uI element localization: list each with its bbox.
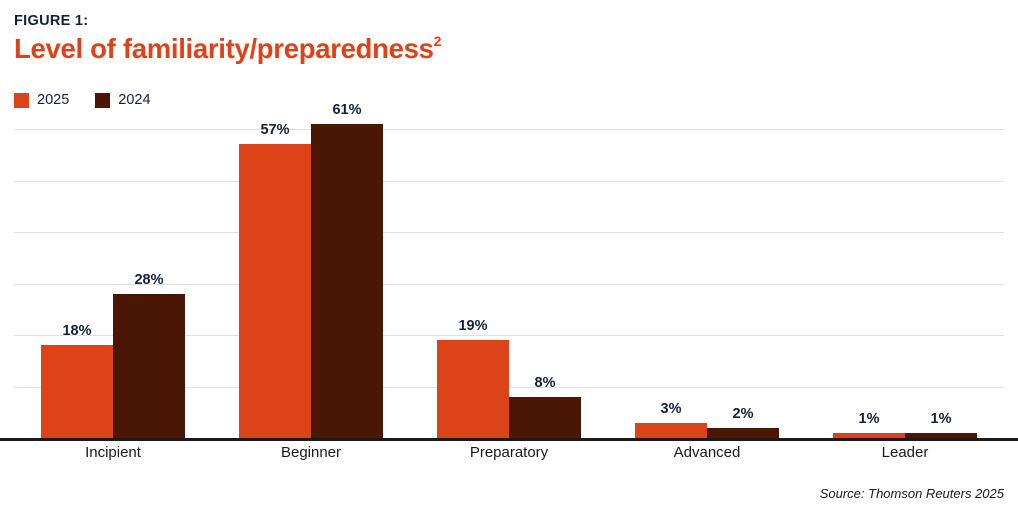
bar-value-label: 1%	[833, 411, 905, 427]
bar-2024-advanced[interactable]	[707, 428, 779, 438]
x-axis-label-preparatory: Preparatory	[419, 444, 599, 461]
bar-value-label: 3%	[635, 401, 707, 417]
bar-value-label: 1%	[905, 411, 977, 427]
bar-2024-incipient[interactable]	[113, 294, 185, 438]
bar-2025-beginner[interactable]	[239, 144, 311, 438]
source-attribution: Source: Thomson Reuters 2025	[820, 486, 1004, 501]
bar-value-label: 8%	[509, 375, 581, 391]
x-axis-label-leader: Leader	[815, 444, 995, 461]
x-axis-label-advanced: Advanced	[617, 444, 797, 461]
x-axis-category-labels: IncipientBeginnerPreparatoryAdvancedLead…	[0, 444, 1018, 470]
x-axis-label-beginner: Beginner	[221, 444, 401, 461]
bar-2025-incipient[interactable]	[41, 345, 113, 438]
bar-value-label: 61%	[311, 102, 383, 118]
x-axis-line	[0, 438, 1018, 441]
bar-value-label: 57%	[239, 122, 311, 138]
bar-value-label: 19%	[437, 318, 509, 334]
bar-value-label: 2%	[707, 406, 779, 422]
bar-2024-beginner[interactable]	[311, 124, 383, 438]
x-axis-label-incipient: Incipient	[23, 444, 203, 461]
bar-2025-advanced[interactable]	[635, 423, 707, 438]
chart-plot-area: 18%28%57%61%19%8%3%2%1%1%	[0, 0, 1018, 438]
bar-value-label: 28%	[113, 272, 185, 288]
bar-2025-preparatory[interactable]	[437, 340, 509, 438]
bar-value-label: 18%	[41, 323, 113, 339]
bar-2024-preparatory[interactable]	[509, 397, 581, 438]
